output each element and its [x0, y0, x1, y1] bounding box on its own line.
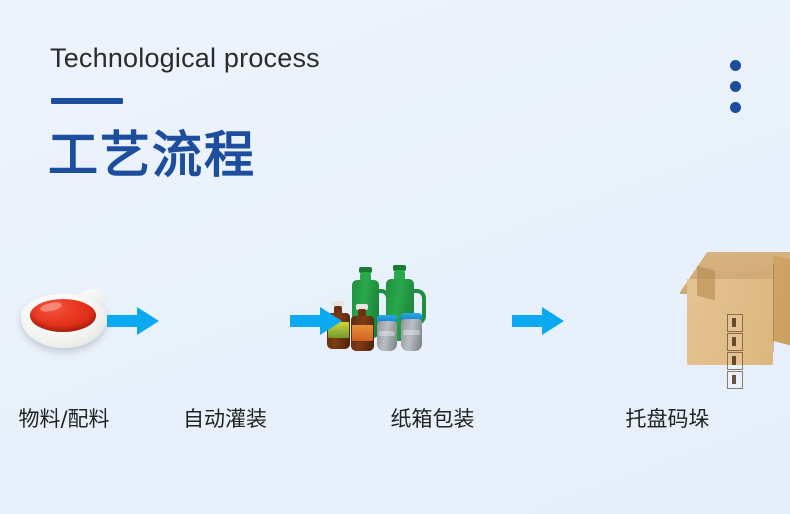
- flow-arrow-icon: [107, 306, 159, 336]
- title-underline-rule: [51, 98, 123, 104]
- page-title-english: Technological process: [50, 43, 320, 74]
- step-caption-palletizing: 托盘码垛: [565, 403, 770, 433]
- dot-icon: [730, 81, 741, 92]
- process-step-filling: 自动灌装: [160, 210, 290, 450]
- carton-right-face: [773, 255, 790, 361]
- process-step-cartoning: 纸箱包装: [340, 210, 525, 450]
- carton-seam: [773, 264, 774, 352]
- step-caption-material: 物料/配料: [0, 403, 128, 433]
- bowl-of-red-liquid-icon: [18, 288, 110, 350]
- process-step-palletizing: 托盘码垛: [565, 210, 770, 450]
- step-caption-filling: 自动灌装: [160, 403, 290, 433]
- dot-icon: [730, 60, 741, 71]
- flow-arrow-icon: [290, 306, 342, 336]
- red-liquid: [30, 299, 96, 332]
- process-infographic: Technological process 工艺流程 物料/配料: [0, 0, 790, 514]
- flow-arrow-icon: [512, 306, 564, 336]
- decorative-dots: [730, 60, 741, 123]
- dot-icon: [730, 102, 741, 113]
- page-title-chinese: 工艺流程: [48, 115, 256, 187]
- process-flow: 物料/配料: [0, 210, 790, 450]
- step-caption-cartoning: 纸箱包装: [340, 403, 525, 433]
